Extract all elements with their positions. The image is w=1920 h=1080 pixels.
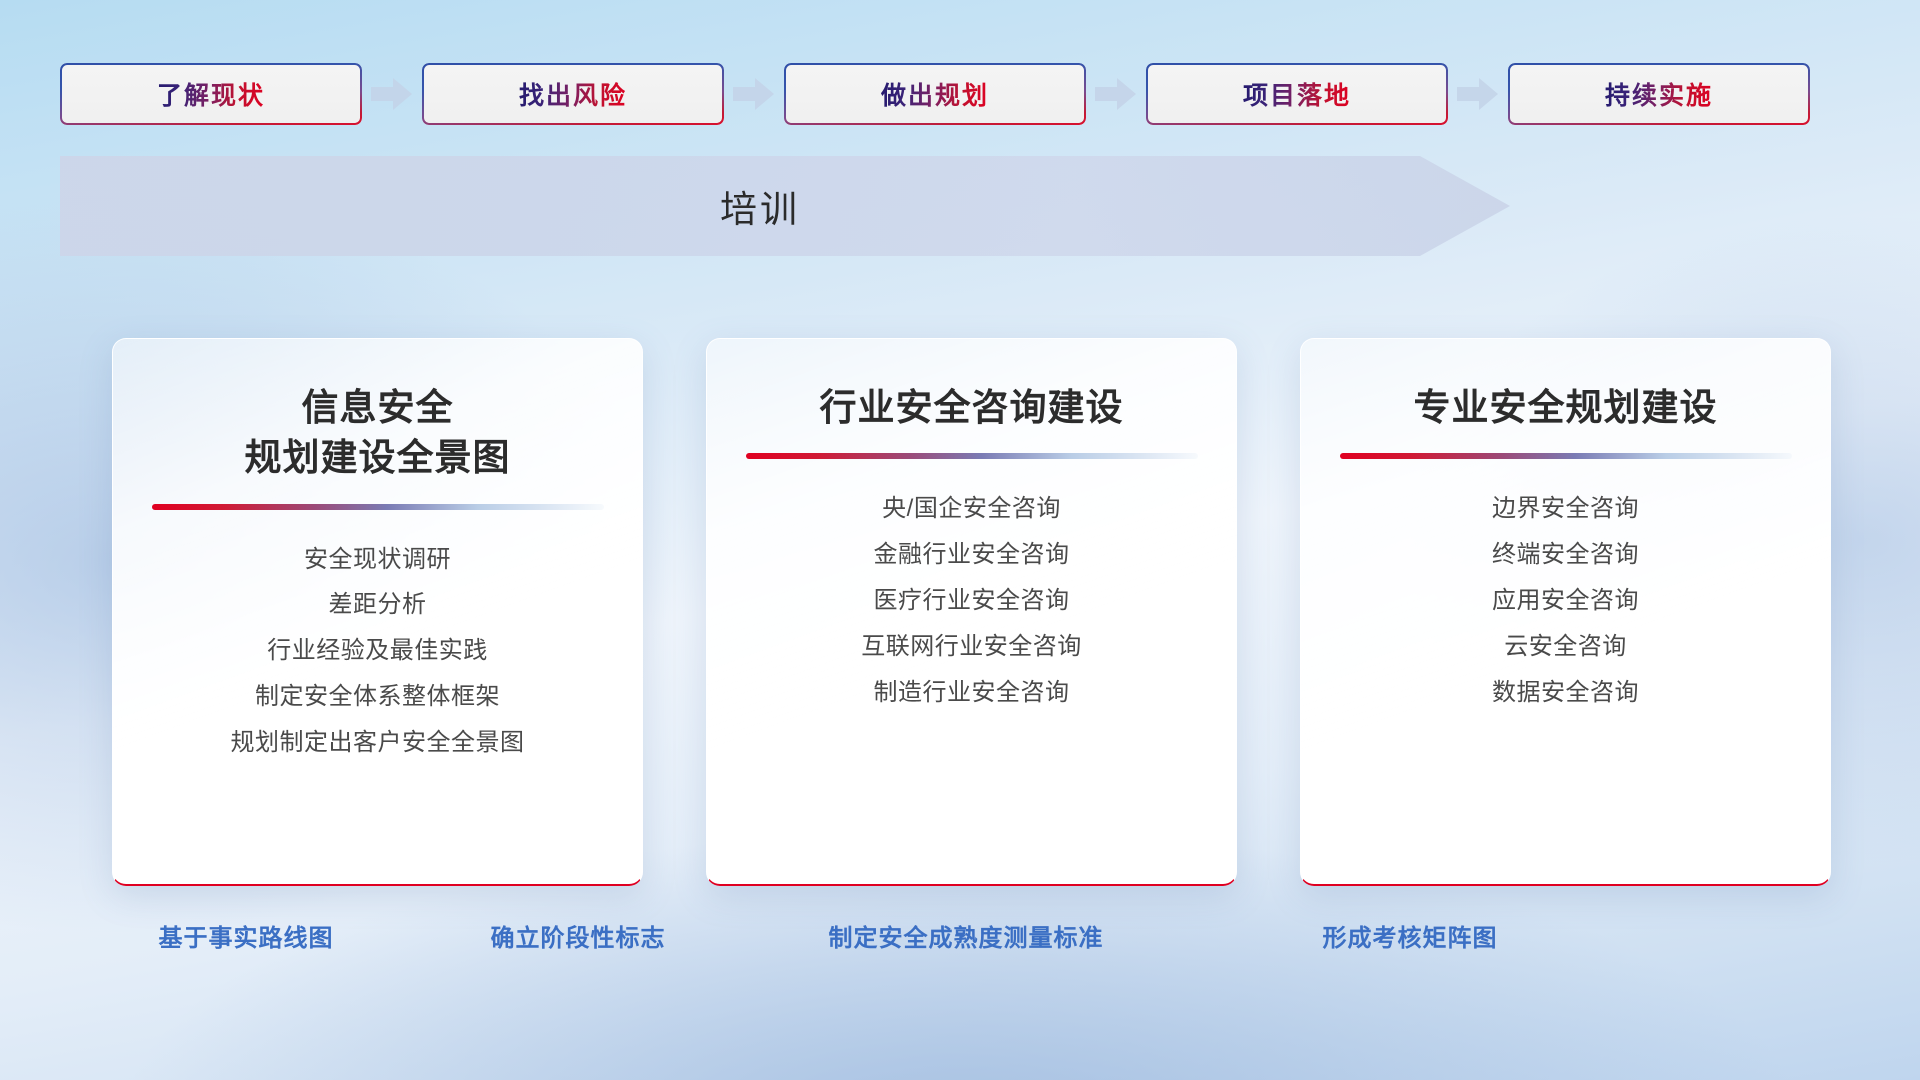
step-box-4[interactable]: 项目落地 — [1146, 63, 1448, 125]
footer-label-3: 制定安全成熟度测量标准 — [829, 918, 1104, 953]
step-label-4: 项目落地 — [1243, 76, 1351, 112]
training-banner: 培训 — [60, 156, 1510, 256]
list-item: 金融行业安全咨询 — [874, 541, 1070, 570]
footer-label-row: 基于事实路线图 确立阶段性标志 制定安全成熟度测量标准 形成考核矩阵图 — [0, 918, 1920, 960]
cards-row: 信息安全 规划建设全景图 安全现状调研 差距分析 行业经验及最佳实践 制定安全体… — [112, 338, 1832, 886]
list-item: 安全现状调研 — [304, 546, 451, 575]
card-wrap-2: 行业安全咨询建设 央/国企安全咨询 金融行业安全咨询 医疗行业安全咨询 互联网行… — [706, 338, 1237, 886]
step-arrow-icon-4 — [1448, 77, 1508, 111]
list-item: 制定安全体系整体框架 — [255, 683, 500, 712]
step-box-2[interactable]: 找出风险 — [422, 63, 724, 125]
card-rule-1 — [152, 504, 604, 510]
step-box-5[interactable]: 持续实施 — [1508, 63, 1810, 125]
card-1[interactable]: 信息安全 规划建设全景图 安全现状调研 差距分析 行业经验及最佳实践 制定安全体… — [112, 338, 643, 886]
card-list-1: 安全现状调研 差距分析 行业经验及最佳实践 制定安全体系整体框架 规划制定出客户… — [113, 546, 642, 758]
footer-label-2: 确立阶段性标志 — [491, 918, 666, 953]
list-item: 差距分析 — [329, 591, 427, 620]
card-wrap-1: 信息安全 规划建设全景图 安全现状调研 差距分析 行业经验及最佳实践 制定安全体… — [112, 338, 643, 886]
banner-title: 培训 — [60, 156, 1460, 256]
step-label-3: 做出规划 — [881, 76, 989, 112]
card-wrap-3: 专业安全规划建设 边界安全咨询 终端安全咨询 应用安全咨询 云安全咨询 数据安全… — [1300, 338, 1831, 886]
step-arrow-icon-2 — [724, 77, 784, 111]
card-title-2: 行业安全咨询建设 — [820, 383, 1124, 433]
list-item: 央/国企安全咨询 — [882, 495, 1061, 524]
list-item: 应用安全咨询 — [1492, 587, 1639, 616]
list-item: 制造行业安全咨询 — [874, 679, 1070, 708]
list-item: 医疗行业安全咨询 — [874, 587, 1070, 616]
list-item: 终端安全咨询 — [1492, 541, 1639, 570]
list-item: 边界安全咨询 — [1492, 495, 1639, 524]
step-label-5: 持续实施 — [1605, 76, 1713, 112]
step-arrow-icon-3 — [1086, 77, 1146, 111]
card-list-2: 央/国企安全咨询 金融行业安全咨询 医疗行业安全咨询 互联网行业安全咨询 制造行… — [707, 495, 1236, 707]
card-title-3: 专业安全规划建设 — [1414, 383, 1718, 433]
step-label-1: 了解现状 — [157, 76, 265, 112]
step-label-2: 找出风险 — [519, 76, 627, 112]
card-rule-3 — [1340, 453, 1792, 459]
card-title-1: 信息安全 规划建设全景图 — [245, 383, 511, 484]
list-item: 互联网行业安全咨询 — [861, 633, 1082, 662]
list-item: 数据安全咨询 — [1492, 679, 1639, 708]
card-2[interactable]: 行业安全咨询建设 央/国企安全咨询 金融行业安全咨询 医疗行业安全咨询 互联网行… — [706, 338, 1237, 886]
card-list-3: 边界安全咨询 终端安全咨询 应用安全咨询 云安全咨询 数据安全咨询 — [1301, 495, 1830, 707]
list-item: 规划制定出客户安全全景图 — [231, 729, 525, 758]
slide-canvas: 了解现状 找出风险 做出规划 项目落地 — [0, 0, 1920, 1080]
step-arrow-icon-1 — [362, 77, 422, 111]
list-item: 行业经验及最佳实践 — [267, 637, 488, 666]
step-box-3[interactable]: 做出规划 — [784, 63, 1086, 125]
step-box-1[interactable]: 了解现状 — [60, 63, 362, 125]
footer-label-4: 形成考核矩阵图 — [1323, 918, 1498, 953]
footer-label-1: 基于事实路线图 — [159, 918, 334, 953]
process-step-row: 了解现状 找出风险 做出规划 项目落地 — [60, 63, 1860, 125]
card-rule-2 — [746, 453, 1198, 459]
card-3[interactable]: 专业安全规划建设 边界安全咨询 终端安全咨询 应用安全咨询 云安全咨询 数据安全… — [1300, 338, 1831, 886]
list-item: 云安全咨询 — [1504, 633, 1627, 662]
